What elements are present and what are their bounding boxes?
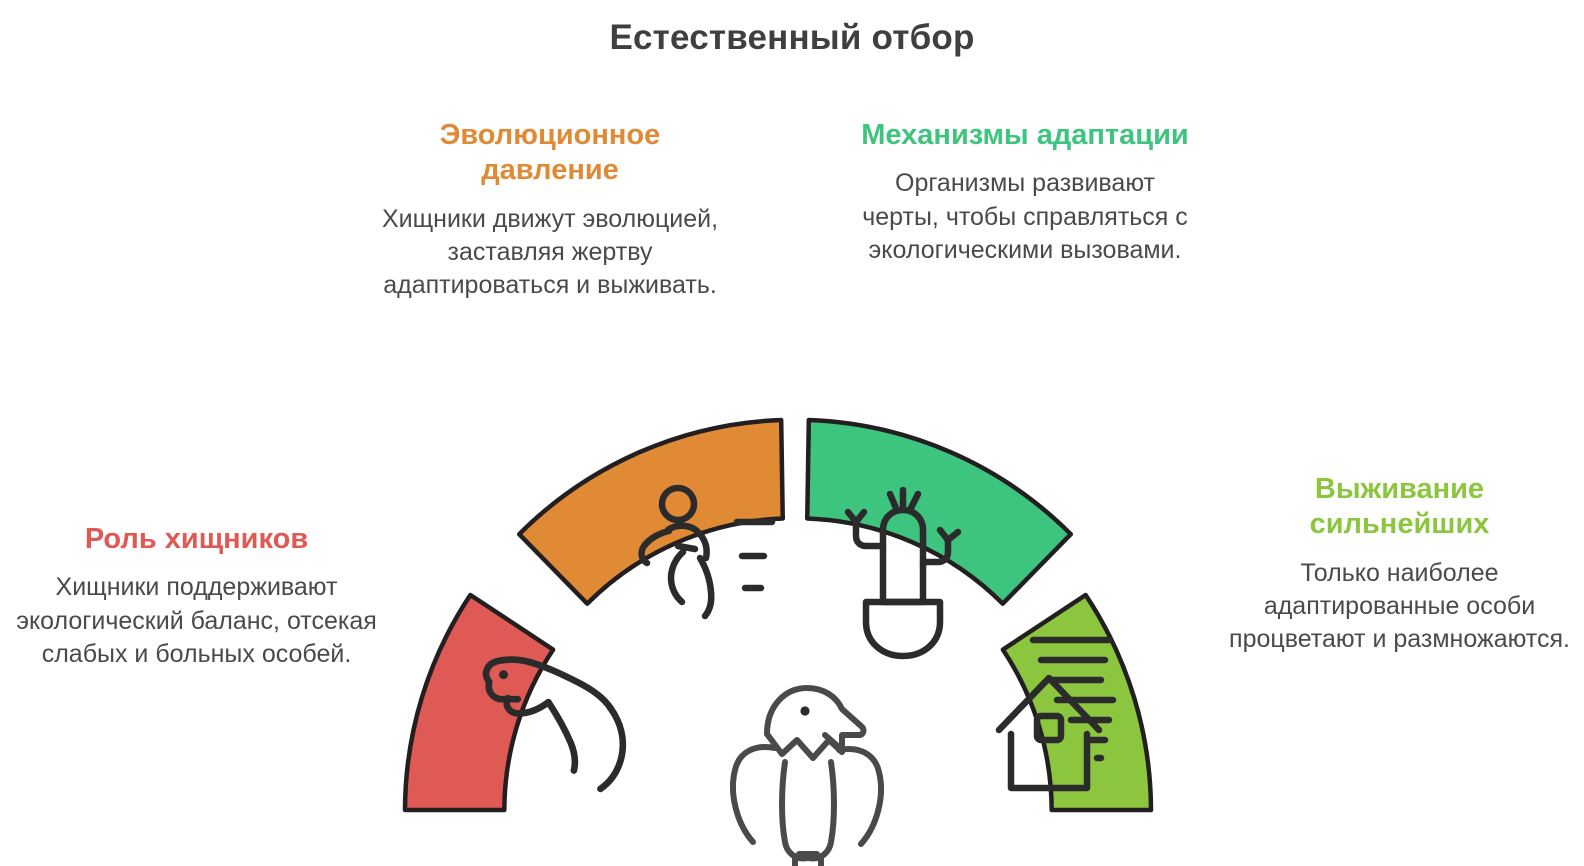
callout-body-adaptation-mechanisms: Организмы развивают черты, чтобы справля… <box>855 167 1195 267</box>
callout-heading-adaptation-mechanisms: Механизмы адаптации <box>855 118 1195 153</box>
segment-adaptation-mechanisms[interactable] <box>807 420 1071 656</box>
segment-predator-role-shape[interactable] <box>405 595 553 810</box>
callout-body-survival-fittest: Только наиболее адаптированные особи про… <box>1222 557 1577 657</box>
callout-heading-survival-fittest: Выживание сильнейших <box>1222 472 1577 543</box>
segment-predator-role[interactable] <box>405 595 623 810</box>
callout-evolutionary-pressure: Эволюционное давление Хищники движут эво… <box>380 118 720 303</box>
callout-body-predator-role: Хищники поддерживают экологический балан… <box>14 571 379 671</box>
callout-body-evolutionary-pressure: Хищники движут эволюцией, заставляя жерт… <box>380 203 720 303</box>
segment-evolutionary-pressure[interactable] <box>519 420 783 616</box>
segment-survival-fittest[interactable] <box>999 595 1151 810</box>
eagle-icon <box>733 688 881 866</box>
infographic-canvas: Естественный отбор Эволюционное давление… <box>0 0 1584 866</box>
semi-donut-diagram <box>395 398 1195 866</box>
callout-heading-evolutionary-pressure: Эволюционное давление <box>380 118 720 189</box>
callout-predator-role: Роль хищников Хищники поддерживают эколо… <box>14 522 379 671</box>
page-title: Естественный отбор <box>0 18 1584 58</box>
callout-heading-predator-role: Роль хищников <box>14 522 379 557</box>
callout-survival-fittest: Выживание сильнейших Только наиболее ада… <box>1222 472 1577 657</box>
segment-evolutionary-pressure-shape[interactable] <box>519 420 783 604</box>
callout-adaptation-mechanisms: Механизмы адаптации Организмы развивают … <box>855 118 1195 267</box>
